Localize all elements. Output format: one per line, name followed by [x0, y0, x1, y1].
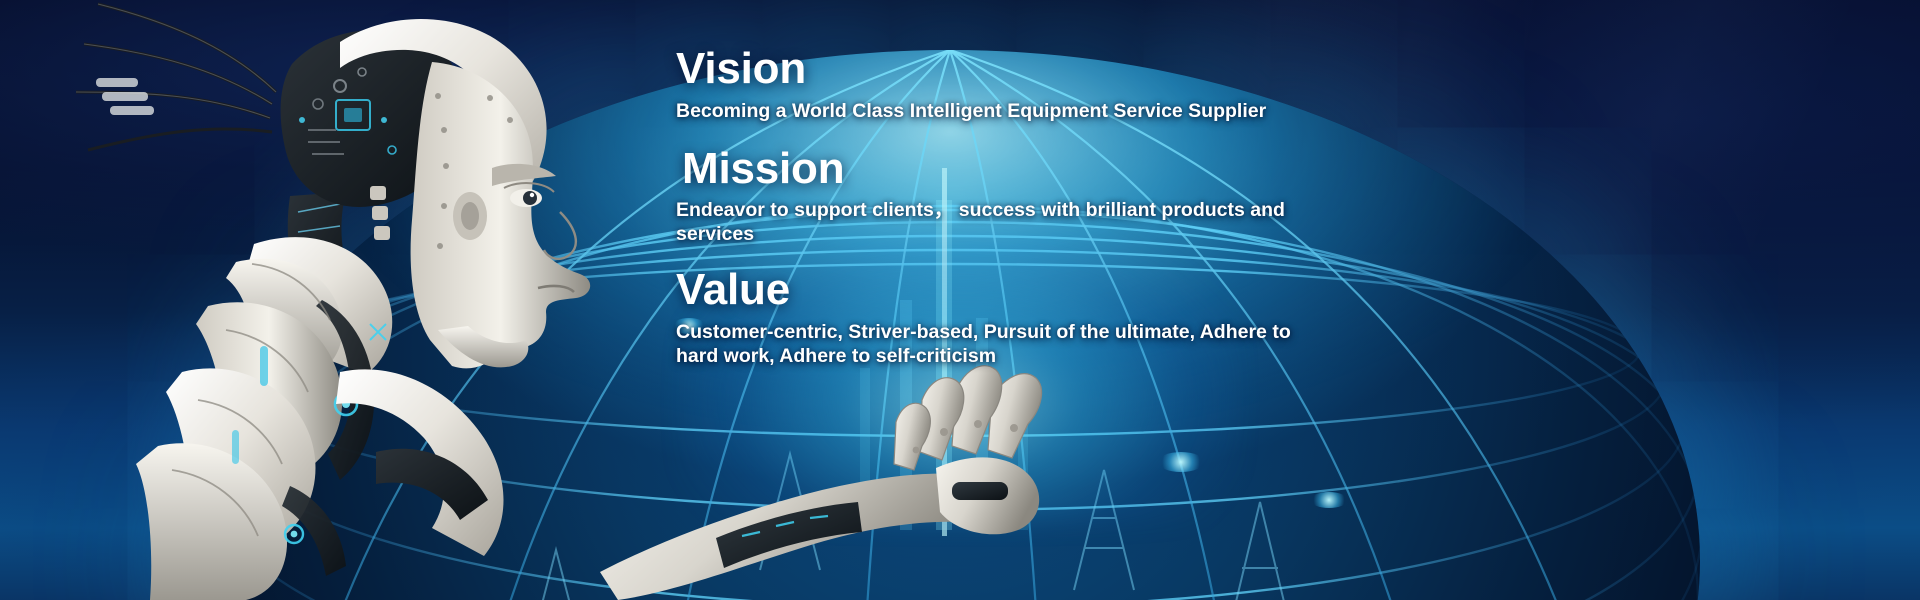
mission-heading: Mission	[682, 146, 1456, 192]
vision-mission-value-banner: Vision Becoming a World Class Intelligen…	[0, 0, 1920, 600]
vision-body: Becoming a World Class Intelligent Equip…	[676, 100, 1376, 124]
section-vision: Vision Becoming a World Class Intelligen…	[676, 46, 1456, 124]
section-mission: Mission Endeavor to support clients， suc…	[676, 146, 1456, 248]
text-content: Vision Becoming a World Class Intelligen…	[676, 46, 1456, 385]
section-value: Value Customer-centric, Striver-based, P…	[676, 267, 1456, 369]
value-heading: Value	[676, 267, 1456, 313]
mission-body: Endeavor to support clients， success wit…	[676, 199, 1316, 247]
value-body: Customer-centric, Striver-based, Pursuit…	[676, 321, 1316, 369]
vision-heading: Vision	[676, 46, 1456, 92]
